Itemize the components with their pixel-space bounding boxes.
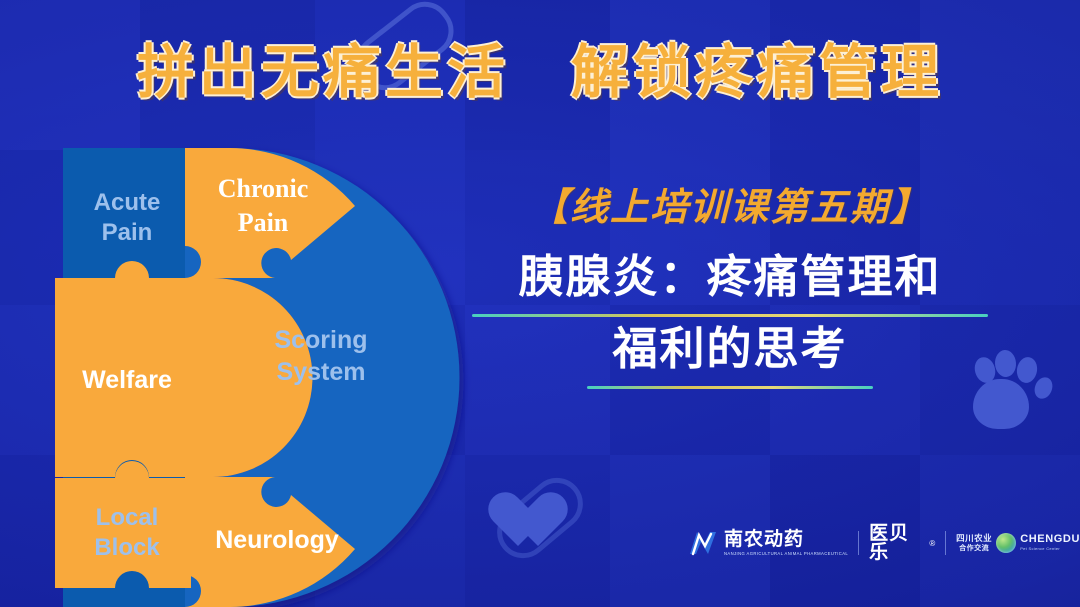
puzzle-label: Chronic [218, 174, 309, 203]
puzzle-label: Neurology [215, 526, 339, 554]
logo-cn-name-small: 四川农业 合作交流 [956, 533, 992, 553]
logo-divider [945, 531, 946, 555]
logo-cn-name: 南农动药 [724, 530, 848, 549]
logo-nanongdongyao: 南农动药 NANJING AGRICULTURAL ANIMAL PHARMAC… [688, 530, 848, 556]
course-badge: 【线上培训课第五期】 [440, 186, 1020, 231]
registered-mark: ® [929, 539, 935, 548]
logo-cn-name: 医贝乐 [869, 524, 923, 562]
puzzle-label: Block [94, 534, 160, 561]
logo-cn-top: 四川农业 [956, 533, 992, 544]
puzzle-label: Acute [94, 189, 161, 216]
puzzle-label: Pain [102, 219, 153, 246]
subtitle-block: 胰腺炎：疼痛管理和 福利的思考 [440, 245, 1020, 389]
subtitle-line-1: 胰腺炎：疼痛管理和 [440, 245, 1020, 308]
logo-divider [858, 531, 859, 555]
chengdu-text: CHENGDU Pet Science Center [1020, 534, 1080, 551]
puzzle-label: Local [96, 504, 159, 531]
globe-mark-icon [996, 533, 1016, 553]
logo-yibeile: 医贝乐 ® [869, 524, 935, 562]
heart-icon [504, 492, 568, 550]
puzzle-label: System [277, 358, 366, 386]
poster-canvas: 拼出无痛生活 解锁疼痛管理 [0, 0, 1080, 607]
logo-en-sub: Pet Science Center [1020, 547, 1080, 551]
logo-chengdu: 四川农业 合作交流 CHENGDU Pet Science Center [956, 533, 1080, 553]
logo-en-name: NANJING AGRICULTURAL ANIMAL PHARMACEUTIC… [724, 551, 848, 556]
puzzle-label: Welfare [82, 366, 172, 394]
right-text-column: 【线上培训课第五期】 胰腺炎：疼痛管理和 福利的思考 [440, 186, 1020, 389]
puzzle-diagram: Acute Pain Chronic Pain Welfare Scoring … [55, 148, 415, 607]
paw-toe [1031, 375, 1055, 402]
subtitle-line-2: 福利的思考 [440, 317, 1020, 380]
subtitle-underline-2 [587, 386, 873, 389]
page-title: 拼出无痛生活 解锁疼痛管理 [0, 44, 1080, 102]
puzzle-label: Pain [238, 208, 289, 237]
logo-text-stack: 南农动药 NANJING AGRICULTURAL ANIMAL PHARMAC… [724, 530, 848, 556]
logo-bar: 南农动药 NANJING AGRICULTURAL ANIMAL PHARMAC… [688, 524, 1080, 562]
logo-cn-bottom: 合作交流 [959, 545, 989, 552]
n-letter-mark-icon [688, 530, 718, 556]
logo-en-name: CHENGDU [1020, 534, 1080, 545]
puzzle-label: Scoring [274, 326, 367, 354]
